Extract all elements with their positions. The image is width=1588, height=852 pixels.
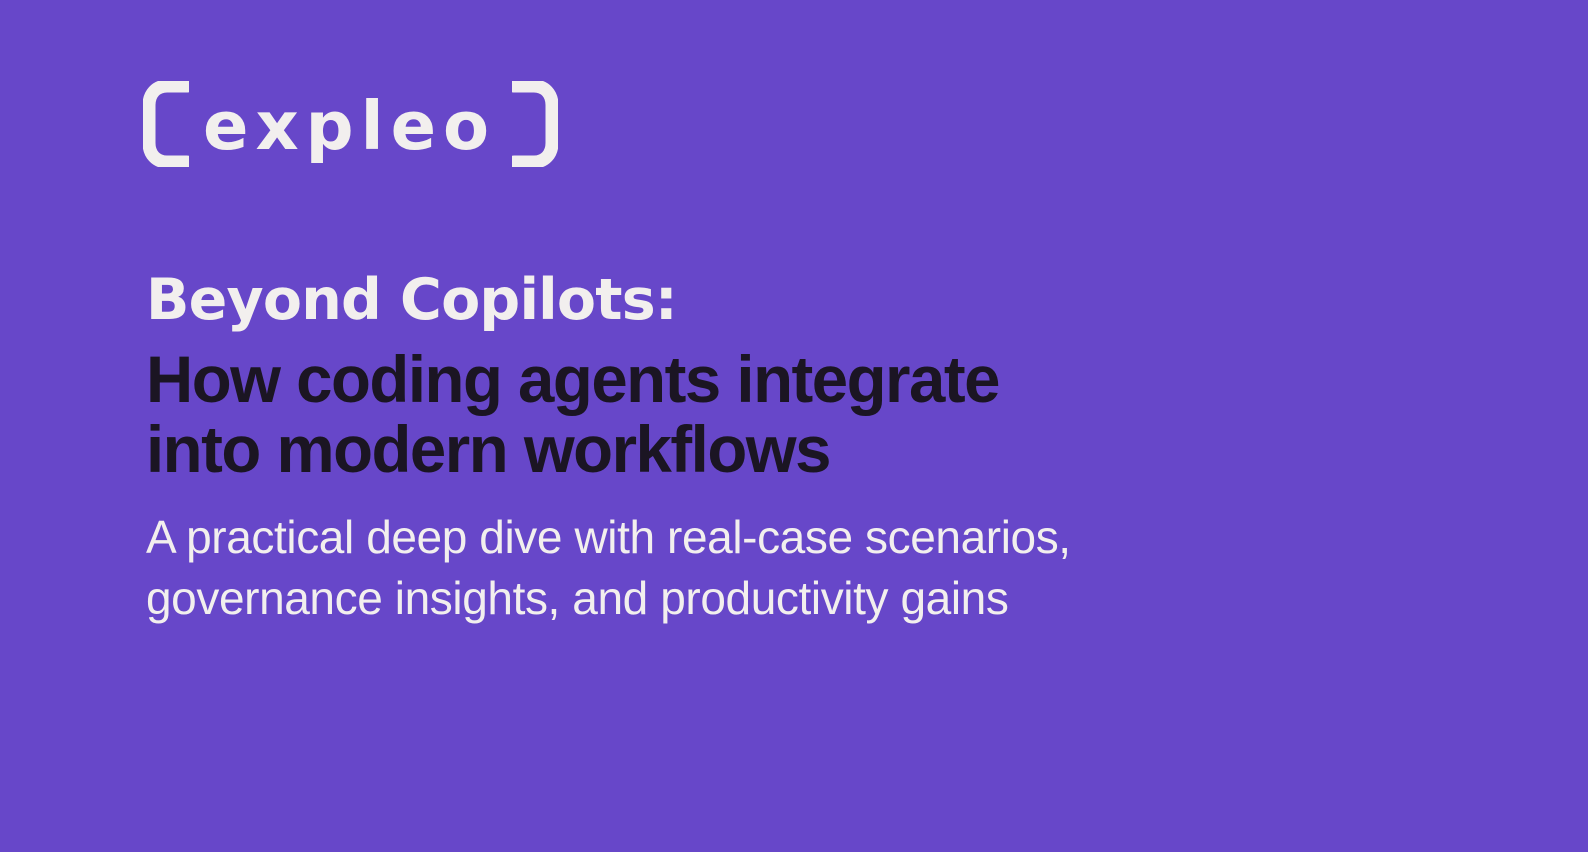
subtitle-line-2: governance insights, and productivity ga… [146, 568, 1466, 629]
subtitle-line-1: A practical deep dive with real-case sce… [146, 507, 1466, 568]
logo-wordmark: expleo [203, 93, 496, 160]
expleo-logo: expleo [143, 78, 558, 170]
headline-line-2: into modern workflows [146, 415, 1453, 485]
title-slide: expleo Beyond Copilots: How coding agent… [0, 0, 1588, 852]
headline-line-1: How coding agents integrate [146, 345, 1453, 415]
right-bracket-icon [512, 81, 558, 167]
subtitle: A practical deep dive with real-case sce… [146, 507, 1466, 628]
eyebrow-title: Beyond Copilots: [146, 272, 1466, 329]
title-text-block: Beyond Copilots: How coding agents integ… [146, 272, 1466, 628]
page-title: How coding agents integrate into modern … [146, 345, 1453, 485]
left-bracket-icon [143, 81, 189, 167]
